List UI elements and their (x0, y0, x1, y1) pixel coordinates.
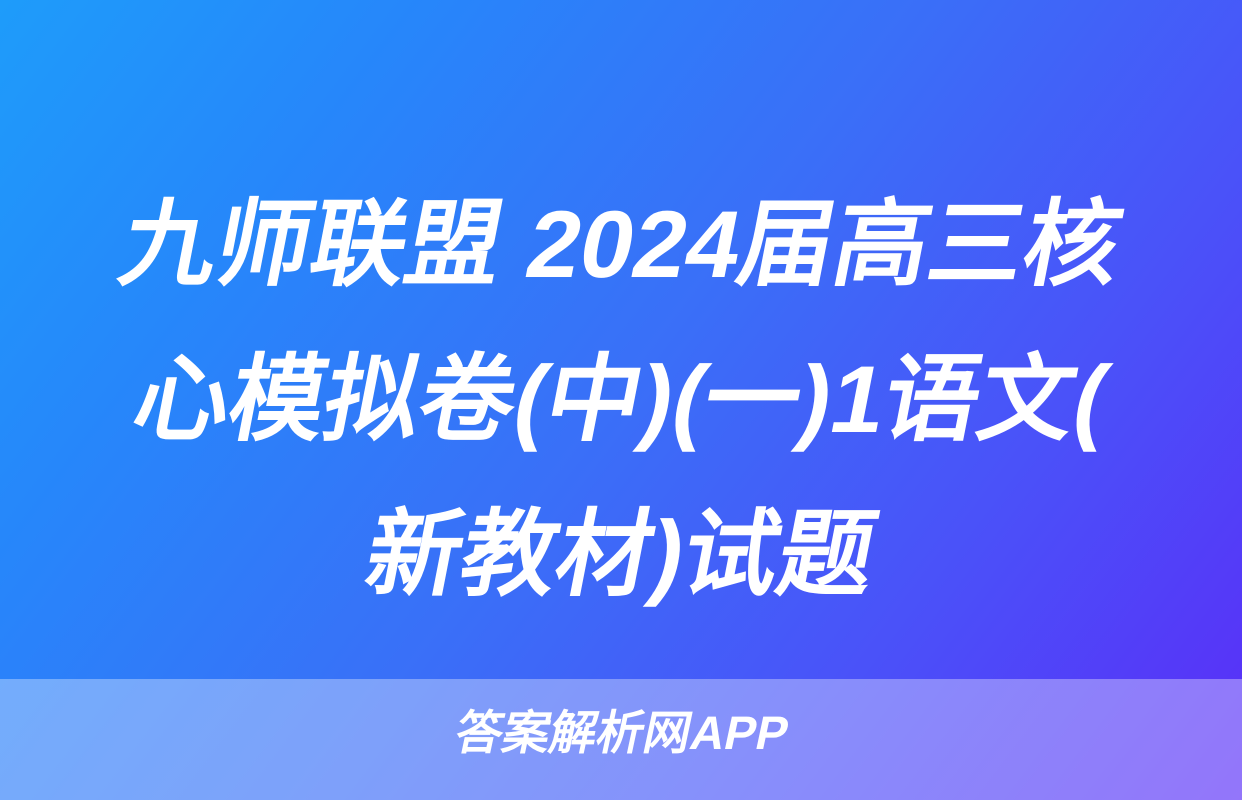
exam-paper-thumbnail-card: 九师联盟 2024届高三核 心模拟卷(中)(一)1语文( 新教材)试题 答案解析… (0, 0, 1242, 800)
title-line-1: 九师联盟 2024届高三核 (57, 168, 1185, 323)
title-line-3: 新教材)试题 (57, 478, 1185, 633)
footer-watermark-band: 答案解析网APP (0, 679, 1242, 800)
title-block: 九师联盟 2024届高三核 心模拟卷(中)(一)1语文( 新教材)试题 (0, 168, 1242, 620)
watermark-text: 答案解析网APP (452, 709, 794, 756)
title-line-2: 心模拟卷(中)(一)1语文( (57, 323, 1185, 478)
